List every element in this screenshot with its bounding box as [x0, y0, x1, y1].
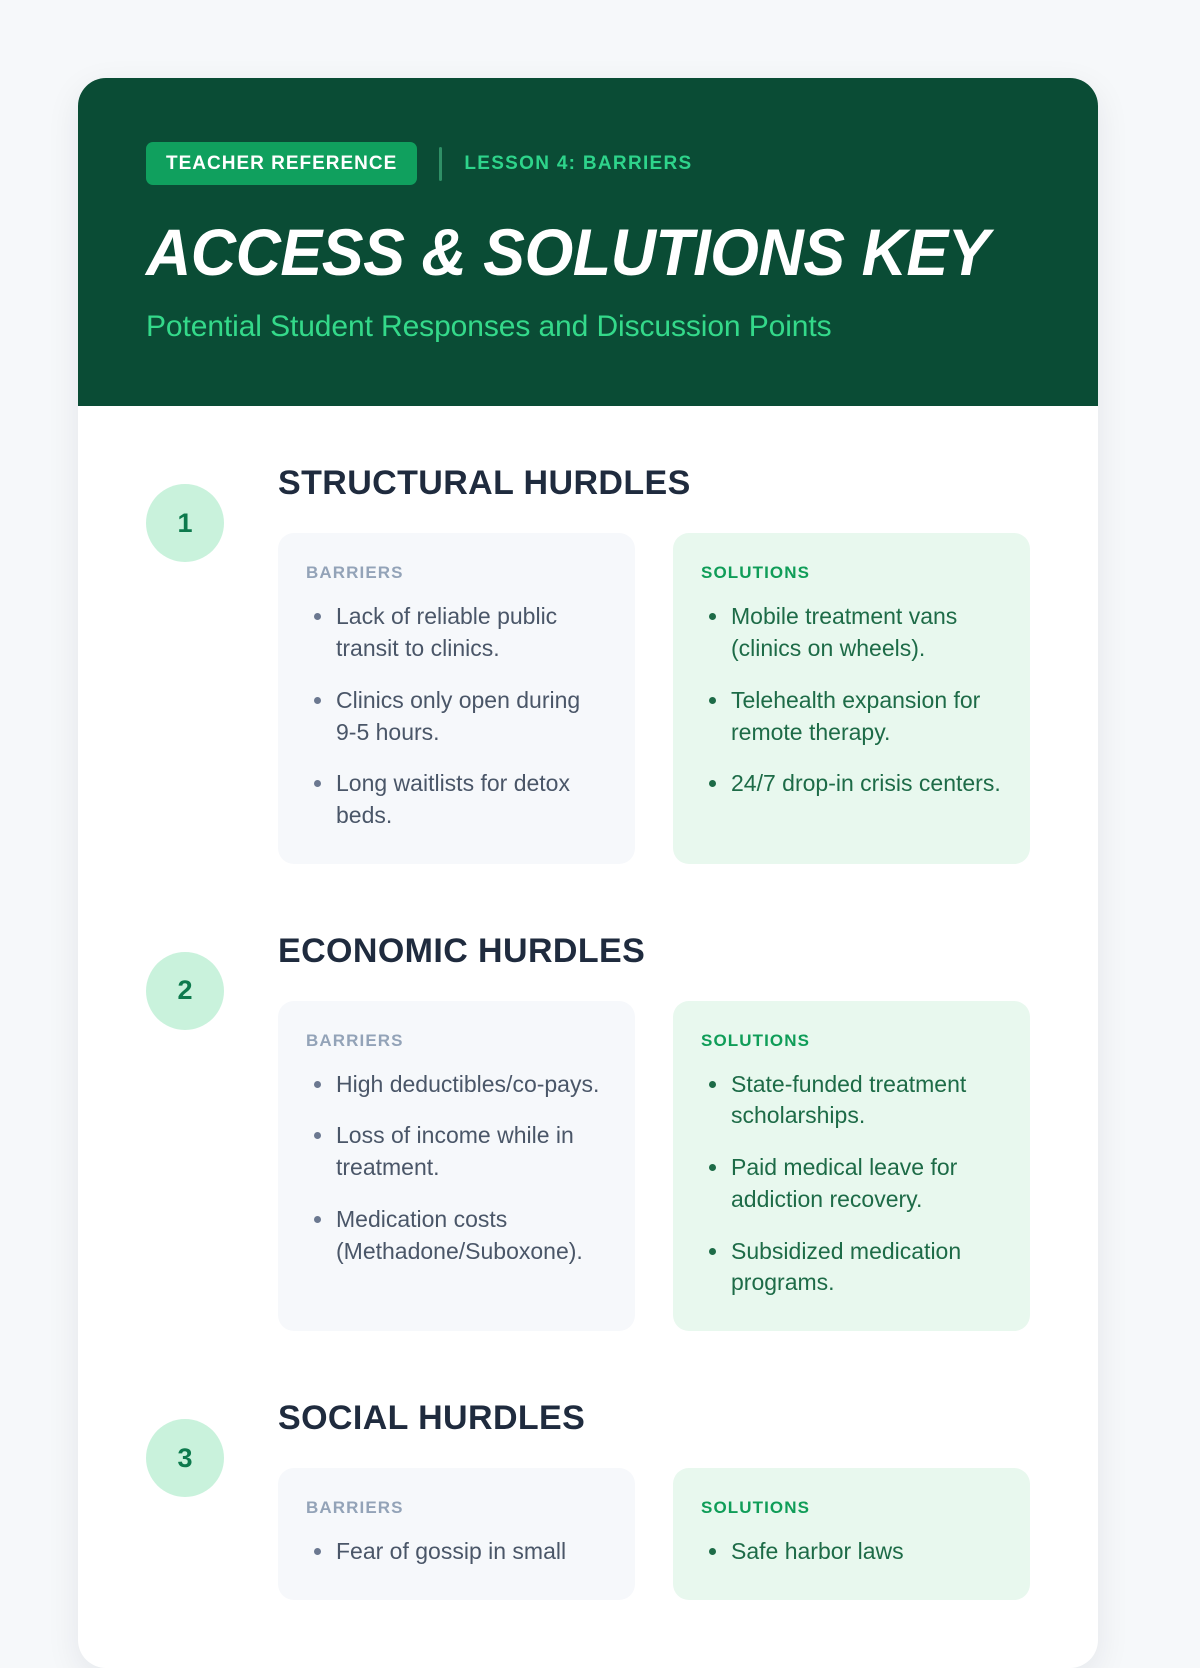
- list-item: Safe harbor laws: [701, 1536, 1002, 1568]
- section-heading: ECONOMIC HURDLES: [278, 932, 1030, 971]
- hurdle-section: 3 SOCIAL HURDLES BARRIERS Fear of gossip…: [146, 1399, 1030, 1600]
- barriers-card: BARRIERS Lack of reliable public transit…: [278, 533, 635, 863]
- card-row: BARRIERS Lack of reliable public transit…: [278, 533, 1030, 863]
- document-sheet: TEACHER REFERENCE LESSON 4: BARRIERS ACC…: [78, 78, 1098, 1668]
- section-content: STRUCTURAL HURDLES BARRIERS Lack of reli…: [278, 464, 1030, 863]
- section-content: ECONOMIC HURDLES BARRIERS High deductibl…: [278, 932, 1030, 1331]
- barriers-label: BARRIERS: [306, 563, 607, 583]
- solutions-card: SOLUTIONS State-funded treatment scholar…: [673, 1001, 1030, 1331]
- barriers-label: BARRIERS: [306, 1498, 607, 1518]
- barriers-list: High deductibles/co-pays. Loss of income…: [306, 1069, 607, 1268]
- card-row: BARRIERS High deductibles/co-pays. Loss …: [278, 1001, 1030, 1331]
- list-item: 24/7 drop-in crisis centers.: [701, 768, 1002, 800]
- list-item: Telehealth expansion for remote therapy.: [701, 685, 1002, 748]
- solutions-label: SOLUTIONS: [701, 1031, 1002, 1051]
- divider: [439, 147, 442, 181]
- card-row: BARRIERS Fear of gossip in small SOLUTIO…: [278, 1468, 1030, 1600]
- solutions-list: Safe harbor laws: [701, 1536, 1002, 1568]
- document-header: TEACHER REFERENCE LESSON 4: BARRIERS ACC…: [78, 78, 1098, 406]
- section-number-badge: 3: [146, 1419, 224, 1497]
- section-number-badge: 2: [146, 952, 224, 1030]
- solutions-label: SOLUTIONS: [701, 563, 1002, 583]
- solutions-list: State-funded treatment scholarships. Pai…: [701, 1069, 1002, 1299]
- list-item: Lack of reliable public transit to clini…: [306, 601, 607, 664]
- solutions-label: SOLUTIONS: [701, 1498, 1002, 1518]
- list-item: State-funded treatment scholarships.: [701, 1069, 1002, 1132]
- teacher-reference-badge: TEACHER REFERENCE: [146, 142, 417, 185]
- hurdle-section: 1 STRUCTURAL HURDLES BARRIERS Lack of re…: [146, 464, 1030, 863]
- solutions-card: SOLUTIONS Safe harbor laws: [673, 1468, 1030, 1600]
- list-item: Fear of gossip in small: [306, 1536, 607, 1568]
- page-title: ACCESS & SOLUTIONS KEY: [146, 219, 986, 286]
- list-item: Medication costs (Methadone/Suboxone).: [306, 1204, 607, 1267]
- eyebrow-row: TEACHER REFERENCE LESSON 4: BARRIERS: [146, 142, 1030, 185]
- list-item: Mobile treatment vans (clinics on wheels…: [701, 601, 1002, 664]
- list-item: Long waitlists for detox beds.: [306, 768, 607, 831]
- barriers-card: BARRIERS Fear of gossip in small: [278, 1468, 635, 1600]
- list-item: High deductibles/co-pays.: [306, 1069, 607, 1101]
- hurdle-section: 2 ECONOMIC HURDLES BARRIERS High deducti…: [146, 932, 1030, 1331]
- list-item: Clinics only open during 9-5 hours.: [306, 685, 607, 748]
- section-heading: STRUCTURAL HURDLES: [278, 464, 1030, 503]
- list-item: Loss of income while in treatment.: [306, 1120, 607, 1183]
- section-content: SOCIAL HURDLES BARRIERS Fear of gossip i…: [278, 1399, 1030, 1600]
- barriers-list: Lack of reliable public transit to clini…: [306, 601, 607, 831]
- lesson-label: LESSON 4: BARRIERS: [464, 153, 692, 175]
- barriers-list: Fear of gossip in small: [306, 1536, 607, 1568]
- section-heading: SOCIAL HURDLES: [278, 1399, 1030, 1438]
- solutions-card: SOLUTIONS Mobile treatment vans (clinics…: [673, 533, 1030, 863]
- barriers-label: BARRIERS: [306, 1031, 607, 1051]
- list-item: Paid medical leave for addiction recover…: [701, 1152, 1002, 1215]
- page-subtitle: Potential Student Responses and Discussi…: [146, 310, 1030, 344]
- barriers-card: BARRIERS High deductibles/co-pays. Loss …: [278, 1001, 635, 1331]
- list-item: Subsidized medication programs.: [701, 1236, 1002, 1299]
- document-body: 1 STRUCTURAL HURDLES BARRIERS Lack of re…: [78, 406, 1098, 1600]
- solutions-list: Mobile treatment vans (clinics on wheels…: [701, 601, 1002, 800]
- section-number-badge: 1: [146, 484, 224, 562]
